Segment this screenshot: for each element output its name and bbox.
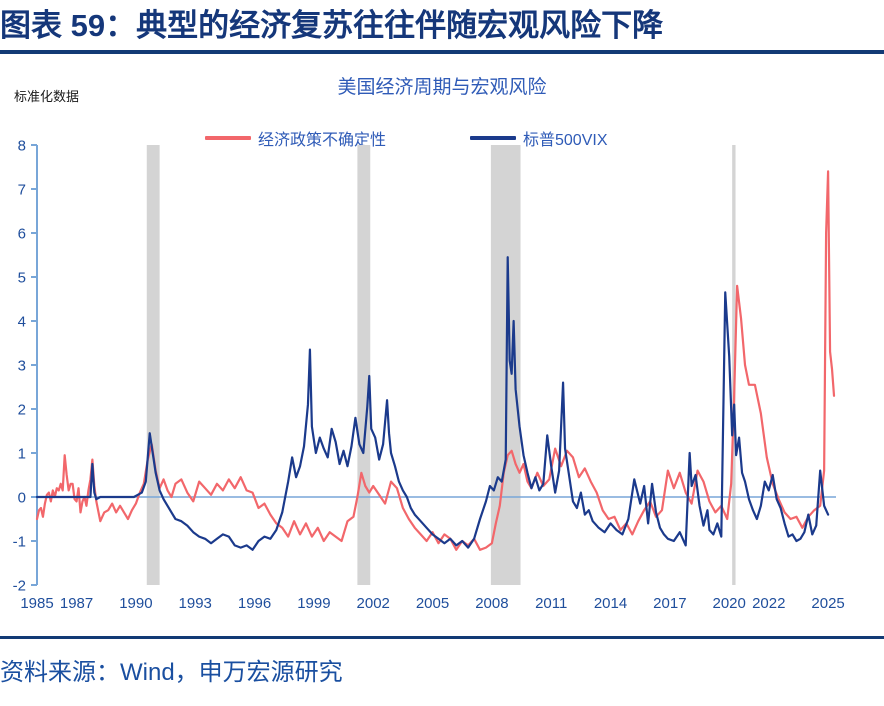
y-tick-label: 7 — [18, 182, 26, 199]
figure-title: 图表 59：典型的经济复苏往往伴随宏观风险下降 — [0, 6, 884, 46]
x-tick-label: 2022 — [752, 595, 785, 610]
x-tick-label: 2002 — [357, 595, 390, 610]
chart-plot-area: -2-1012345678 19851987199019931996199920… — [0, 140, 884, 610]
x-tick-label: 1996 — [238, 595, 271, 610]
x-tick-label: 1987 — [60, 595, 93, 610]
y-tick-label: 1 — [18, 446, 26, 463]
y-tick-label: 6 — [18, 226, 26, 243]
x-tick-label: 1985 — [20, 595, 53, 610]
x-tick-label: 2014 — [594, 595, 627, 610]
y-tick-label: 2 — [18, 402, 26, 419]
x-tick-label: 2008 — [475, 595, 508, 610]
title-divider — [0, 50, 884, 54]
x-tick-label: 1999 — [297, 595, 330, 610]
x-tick-label: 2025 — [811, 595, 844, 610]
x-tick-label: 2020 — [713, 595, 746, 610]
x-tick-label: 1990 — [119, 595, 152, 610]
y-tick-label: 3 — [18, 358, 26, 375]
x-axis-ticks: 1985198719901993199619992002200520082011… — [20, 595, 844, 610]
source-text: 资料来源：Wind，申万宏源研究 — [0, 652, 343, 687]
chart-svg: -2-1012345678 19851987199019931996199920… — [0, 140, 884, 610]
x-tick-label: 2017 — [653, 595, 686, 610]
x-tick-label: 2011 — [535, 595, 567, 610]
y-tick-label: -2 — [13, 578, 26, 595]
x-tick-label: 2005 — [416, 595, 449, 610]
recession-band — [357, 145, 370, 585]
recession-band — [147, 145, 160, 585]
y-tick-label: 4 — [18, 314, 26, 331]
y-axis-caption: 标准化数据 — [14, 86, 79, 105]
y-axis-ticks: -2-1012345678 — [13, 140, 37, 595]
chart-title: 美国经济周期与宏观风险 — [0, 72, 884, 99]
y-tick-label: 5 — [18, 270, 26, 287]
y-tick-label: -1 — [13, 534, 26, 551]
y-tick-label: 0 — [18, 490, 26, 507]
y-tick-label: 8 — [18, 140, 26, 155]
source-divider — [0, 636, 884, 639]
x-tick-label: 1993 — [179, 595, 212, 610]
